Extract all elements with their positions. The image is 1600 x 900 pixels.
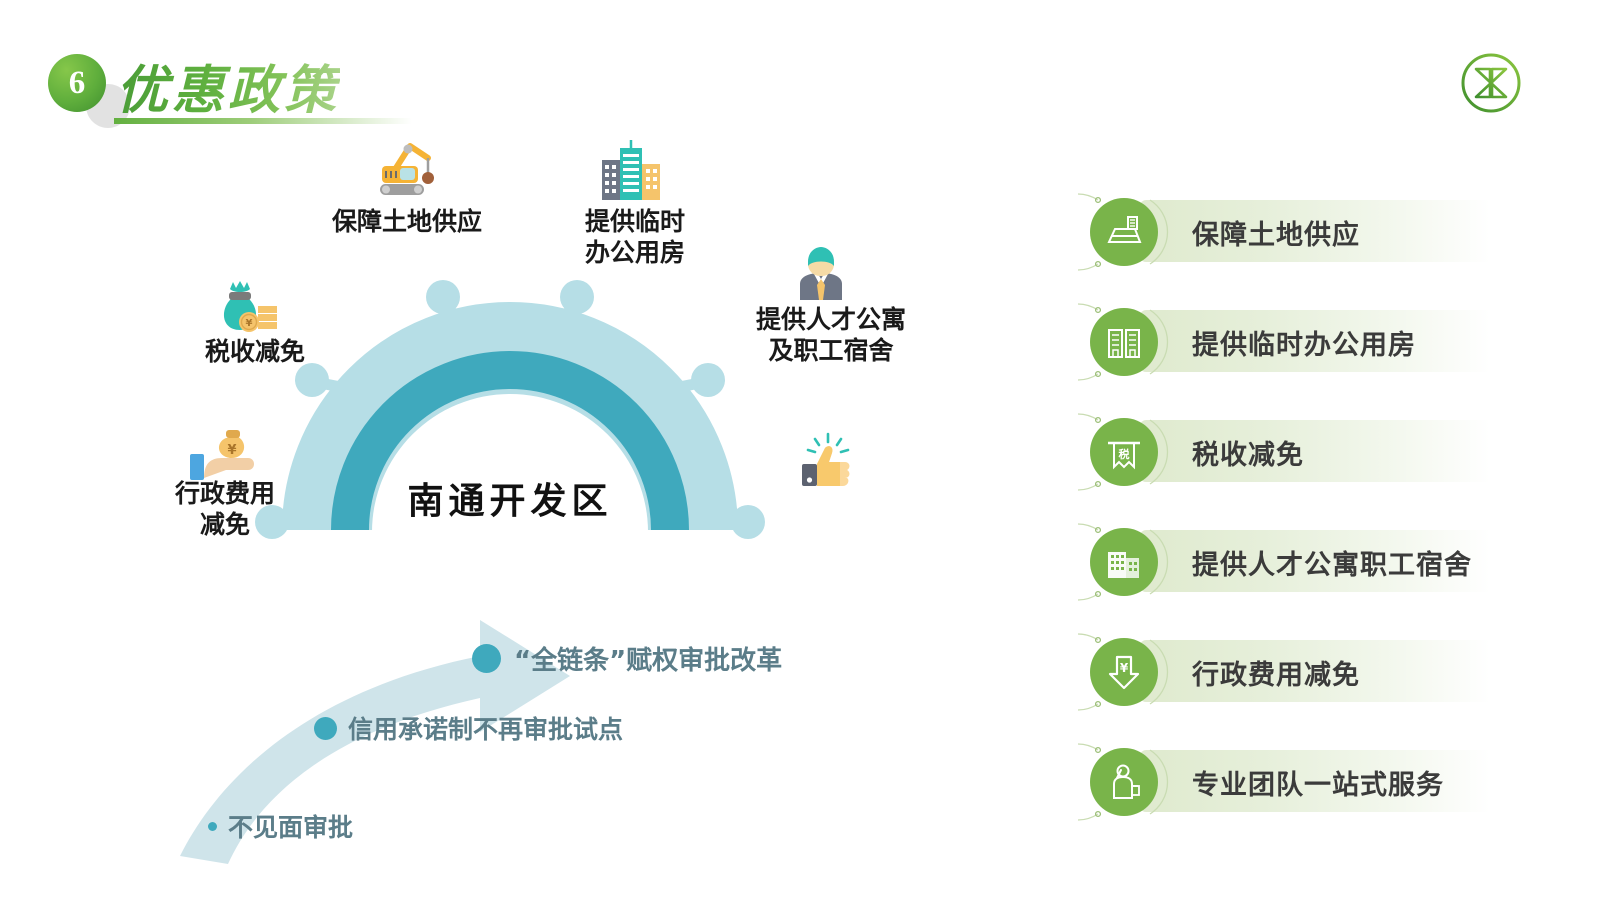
money-bag-icon: ¥	[218, 280, 280, 338]
row-label: 保障土地供应	[1192, 186, 1360, 278]
office-buildings-icon	[598, 138, 664, 202]
wheel-center-label: 南通开发区	[360, 472, 660, 524]
row-label: 行政费用减免	[1192, 626, 1360, 718]
wheel-node-label-talent-housing: 提供人才公寓 及职工宿舍	[706, 306, 956, 367]
wheel-node-label-tax-relief: 税收减免	[130, 338, 380, 369]
buildings-icon	[1090, 308, 1158, 376]
list-item-tax-relief[interactable]: 税 税收减免	[1078, 406, 1558, 498]
svg-text:¥: ¥	[246, 318, 253, 329]
wheel-node-label-land-supply: 保障土地供应	[282, 208, 532, 239]
ntda-emblem-logo	[1460, 52, 1522, 114]
approval-reform-steps: 不见面审批 信用承诺制不再审批试点 “全链条”赋权审批改革	[150, 580, 890, 880]
list-item-land-supply[interactable]: 保障土地供应	[1078, 186, 1558, 278]
wheel-node-label-fee-relief: 行政费用 减免	[100, 480, 350, 541]
step-label: 不见面审批	[228, 808, 353, 844]
row-label: 专业团队一站式服务	[1192, 736, 1444, 828]
benefits-list: 保障土地供应 提供临时办公用房	[1078, 186, 1558, 846]
list-item-talent-housing[interactable]: 提供人才公寓职工宿舍	[1078, 516, 1558, 608]
business-person-icon	[792, 246, 850, 302]
step-item-no-meeting[interactable]: 不见面审批	[208, 808, 353, 844]
page-header: 6 优惠政策	[48, 46, 568, 126]
apartment-icon	[1090, 528, 1158, 596]
row-label: 提供人才公寓职工宿舍	[1192, 516, 1472, 608]
step-bullet-dot	[208, 822, 217, 831]
policy-wheel-diagram: 南通开发区 保障土地供应 提供临时 办公用房	[0, 120, 1000, 580]
list-item-temp-office[interactable]: 提供临时办公用房	[1078, 296, 1558, 388]
svg-text:¥: ¥	[1120, 661, 1129, 675]
row-label: 提供临时办公用房	[1192, 296, 1416, 388]
page-title: 优惠政策	[116, 48, 340, 123]
thumbs-up-icon	[798, 432, 854, 488]
step-bullet-dot	[472, 644, 501, 673]
person-briefcase-icon	[1090, 748, 1158, 816]
step-item-credit[interactable]: 信用承诺制不再审批试点	[314, 710, 623, 746]
down-arrow-yuan-icon: ¥	[1090, 638, 1158, 706]
step-item-full-chain[interactable]: “全链条”赋权审批改革	[472, 640, 782, 677]
excavator-icon	[372, 140, 444, 202]
list-item-fee-relief[interactable]: ¥ 行政费用减免	[1078, 626, 1558, 718]
section-number-badge: 6	[48, 54, 106, 112]
svg-text:税: 税	[1119, 447, 1130, 461]
row-label: 税收减免	[1192, 406, 1304, 498]
tax-receipt-icon: 税	[1090, 418, 1158, 486]
hand-coin-icon: ¥	[186, 426, 264, 480]
svg-text:¥: ¥	[227, 443, 236, 458]
step-label: “全链条”赋权审批改革	[514, 640, 782, 677]
step-label: 信用承诺制不再审批试点	[348, 710, 623, 746]
land-plot-icon	[1090, 198, 1158, 266]
step-bullet-dot	[314, 717, 337, 740]
list-item-one-stop[interactable]: 专业团队一站式服务	[1078, 736, 1558, 828]
wheel-node-label-temp-office: 提供临时 办公用房	[510, 208, 760, 269]
